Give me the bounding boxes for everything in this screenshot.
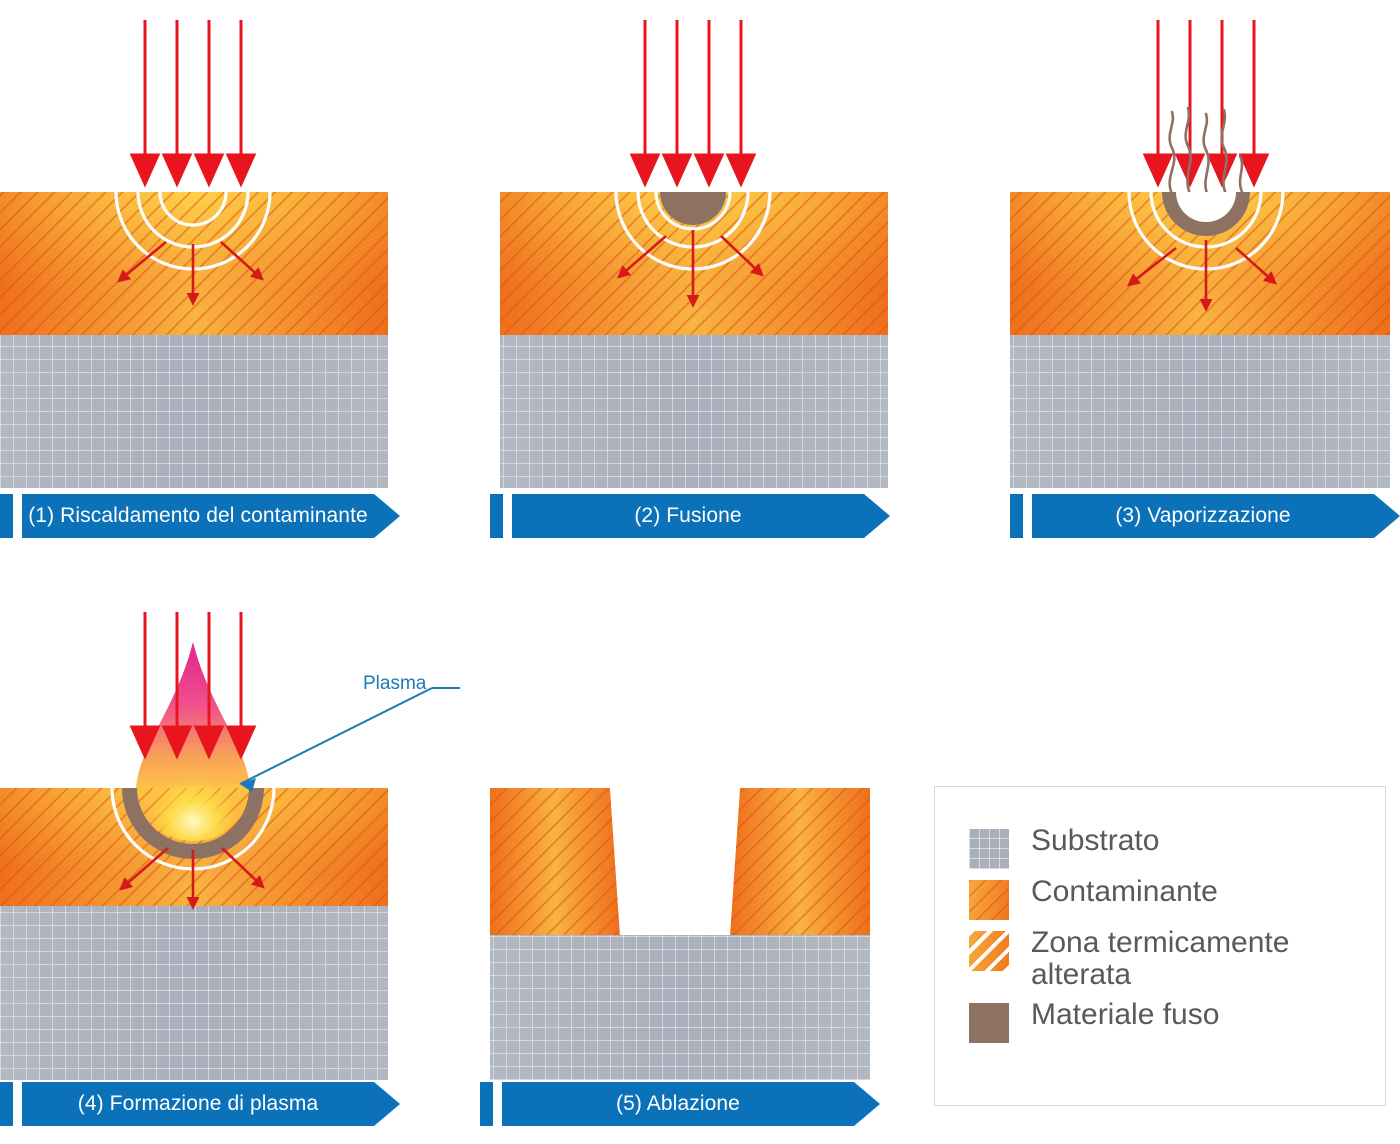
laser-beams	[632, 20, 754, 184]
substrate-layer	[1010, 335, 1390, 488]
step-arrow-tip-4	[374, 1082, 400, 1126]
legend-swatch-substrate-icon	[969, 829, 1009, 869]
step-arrow-3[interactable]: (3) Vaporizzazione	[1032, 494, 1374, 538]
substrate-layer	[0, 906, 388, 1080]
legend-label-contaminante: Contaminante	[1031, 876, 1218, 908]
laser-beams	[132, 20, 254, 184]
step-label-4: (4) Formazione di plasma	[78, 1093, 319, 1116]
step-arrow-tip-1	[374, 494, 400, 538]
plasma-callout-label: Plasma	[363, 673, 426, 695]
step-label-1: (1) Riscaldamento del contaminante	[28, 505, 368, 528]
legend-item-substrato: Substrato	[969, 825, 1371, 869]
step-label-5: (5) Ablazione	[616, 1093, 740, 1116]
step-label-3: (3) Vaporizzazione	[1115, 505, 1290, 528]
step-bar-5: (5) Ablazione	[480, 1082, 880, 1126]
panel-step-1	[0, 8, 420, 488]
panel-step-2	[490, 8, 910, 488]
step-tick-5	[480, 1082, 493, 1126]
substrate-layer	[0, 335, 388, 488]
legend-swatch-haz-icon	[969, 931, 1009, 971]
legend-swatch-contaminant-icon	[969, 880, 1009, 920]
step-arrow-2[interactable]: (2) Fusione	[512, 494, 864, 538]
panel-step-4	[0, 600, 460, 1080]
step-tick-1	[0, 494, 13, 538]
step-bar-1: (1) Riscaldamento del contaminante	[0, 494, 400, 538]
plasma-leader-line	[240, 688, 460, 792]
substrate-layer	[500, 335, 888, 488]
legend-swatch-molten-icon	[969, 1003, 1009, 1043]
legend-box: Substrato Contaminante Zona termicamente…	[934, 786, 1386, 1106]
step-tick-2	[490, 494, 503, 538]
legend-label-zona-termicamente-alterata: Zona termicamente alterata	[1031, 927, 1371, 992]
step-arrow-4[interactable]: (4) Formazione di plasma	[22, 1082, 374, 1126]
step-tick-4	[0, 1082, 13, 1126]
step-arrow-1[interactable]: (1) Riscaldamento del contaminante	[22, 494, 374, 538]
substrate-layer	[490, 935, 870, 1080]
legend-label-materiale-fuso: Materiale fuso	[1031, 999, 1219, 1031]
step-tick-3	[1010, 494, 1023, 538]
vapor-tendrils	[1170, 108, 1242, 196]
panel-step-5	[480, 780, 880, 1080]
legend-item-zona-termicamente-alterata: Zona termicamente alterata	[969, 927, 1371, 992]
step-label-2: (2) Fusione	[634, 505, 741, 528]
contaminant-left-wall	[490, 788, 620, 935]
step-arrow-tip-5	[854, 1082, 880, 1126]
plasma-core-glow	[140, 751, 246, 841]
ablation-crater	[610, 788, 740, 935]
step-arrow-tip-3	[1374, 494, 1400, 538]
step-bar-3: (3) Vaporizzazione	[1010, 494, 1400, 538]
legend-item-contaminante: Contaminante	[969, 876, 1371, 920]
step-bar-4: (4) Formazione di plasma	[0, 1082, 400, 1126]
panel-step-3	[1000, 8, 1400, 488]
legend-item-materiale-fuso: Materiale fuso	[969, 999, 1371, 1043]
legend-label-substrato: Substrato	[1031, 825, 1159, 857]
step-bar-2: (2) Fusione	[490, 494, 890, 538]
step-arrow-tip-2	[864, 494, 890, 538]
contaminant-right-wall	[730, 788, 870, 935]
laser-beams	[1145, 20, 1267, 184]
step-arrow-5[interactable]: (5) Ablazione	[502, 1082, 854, 1126]
